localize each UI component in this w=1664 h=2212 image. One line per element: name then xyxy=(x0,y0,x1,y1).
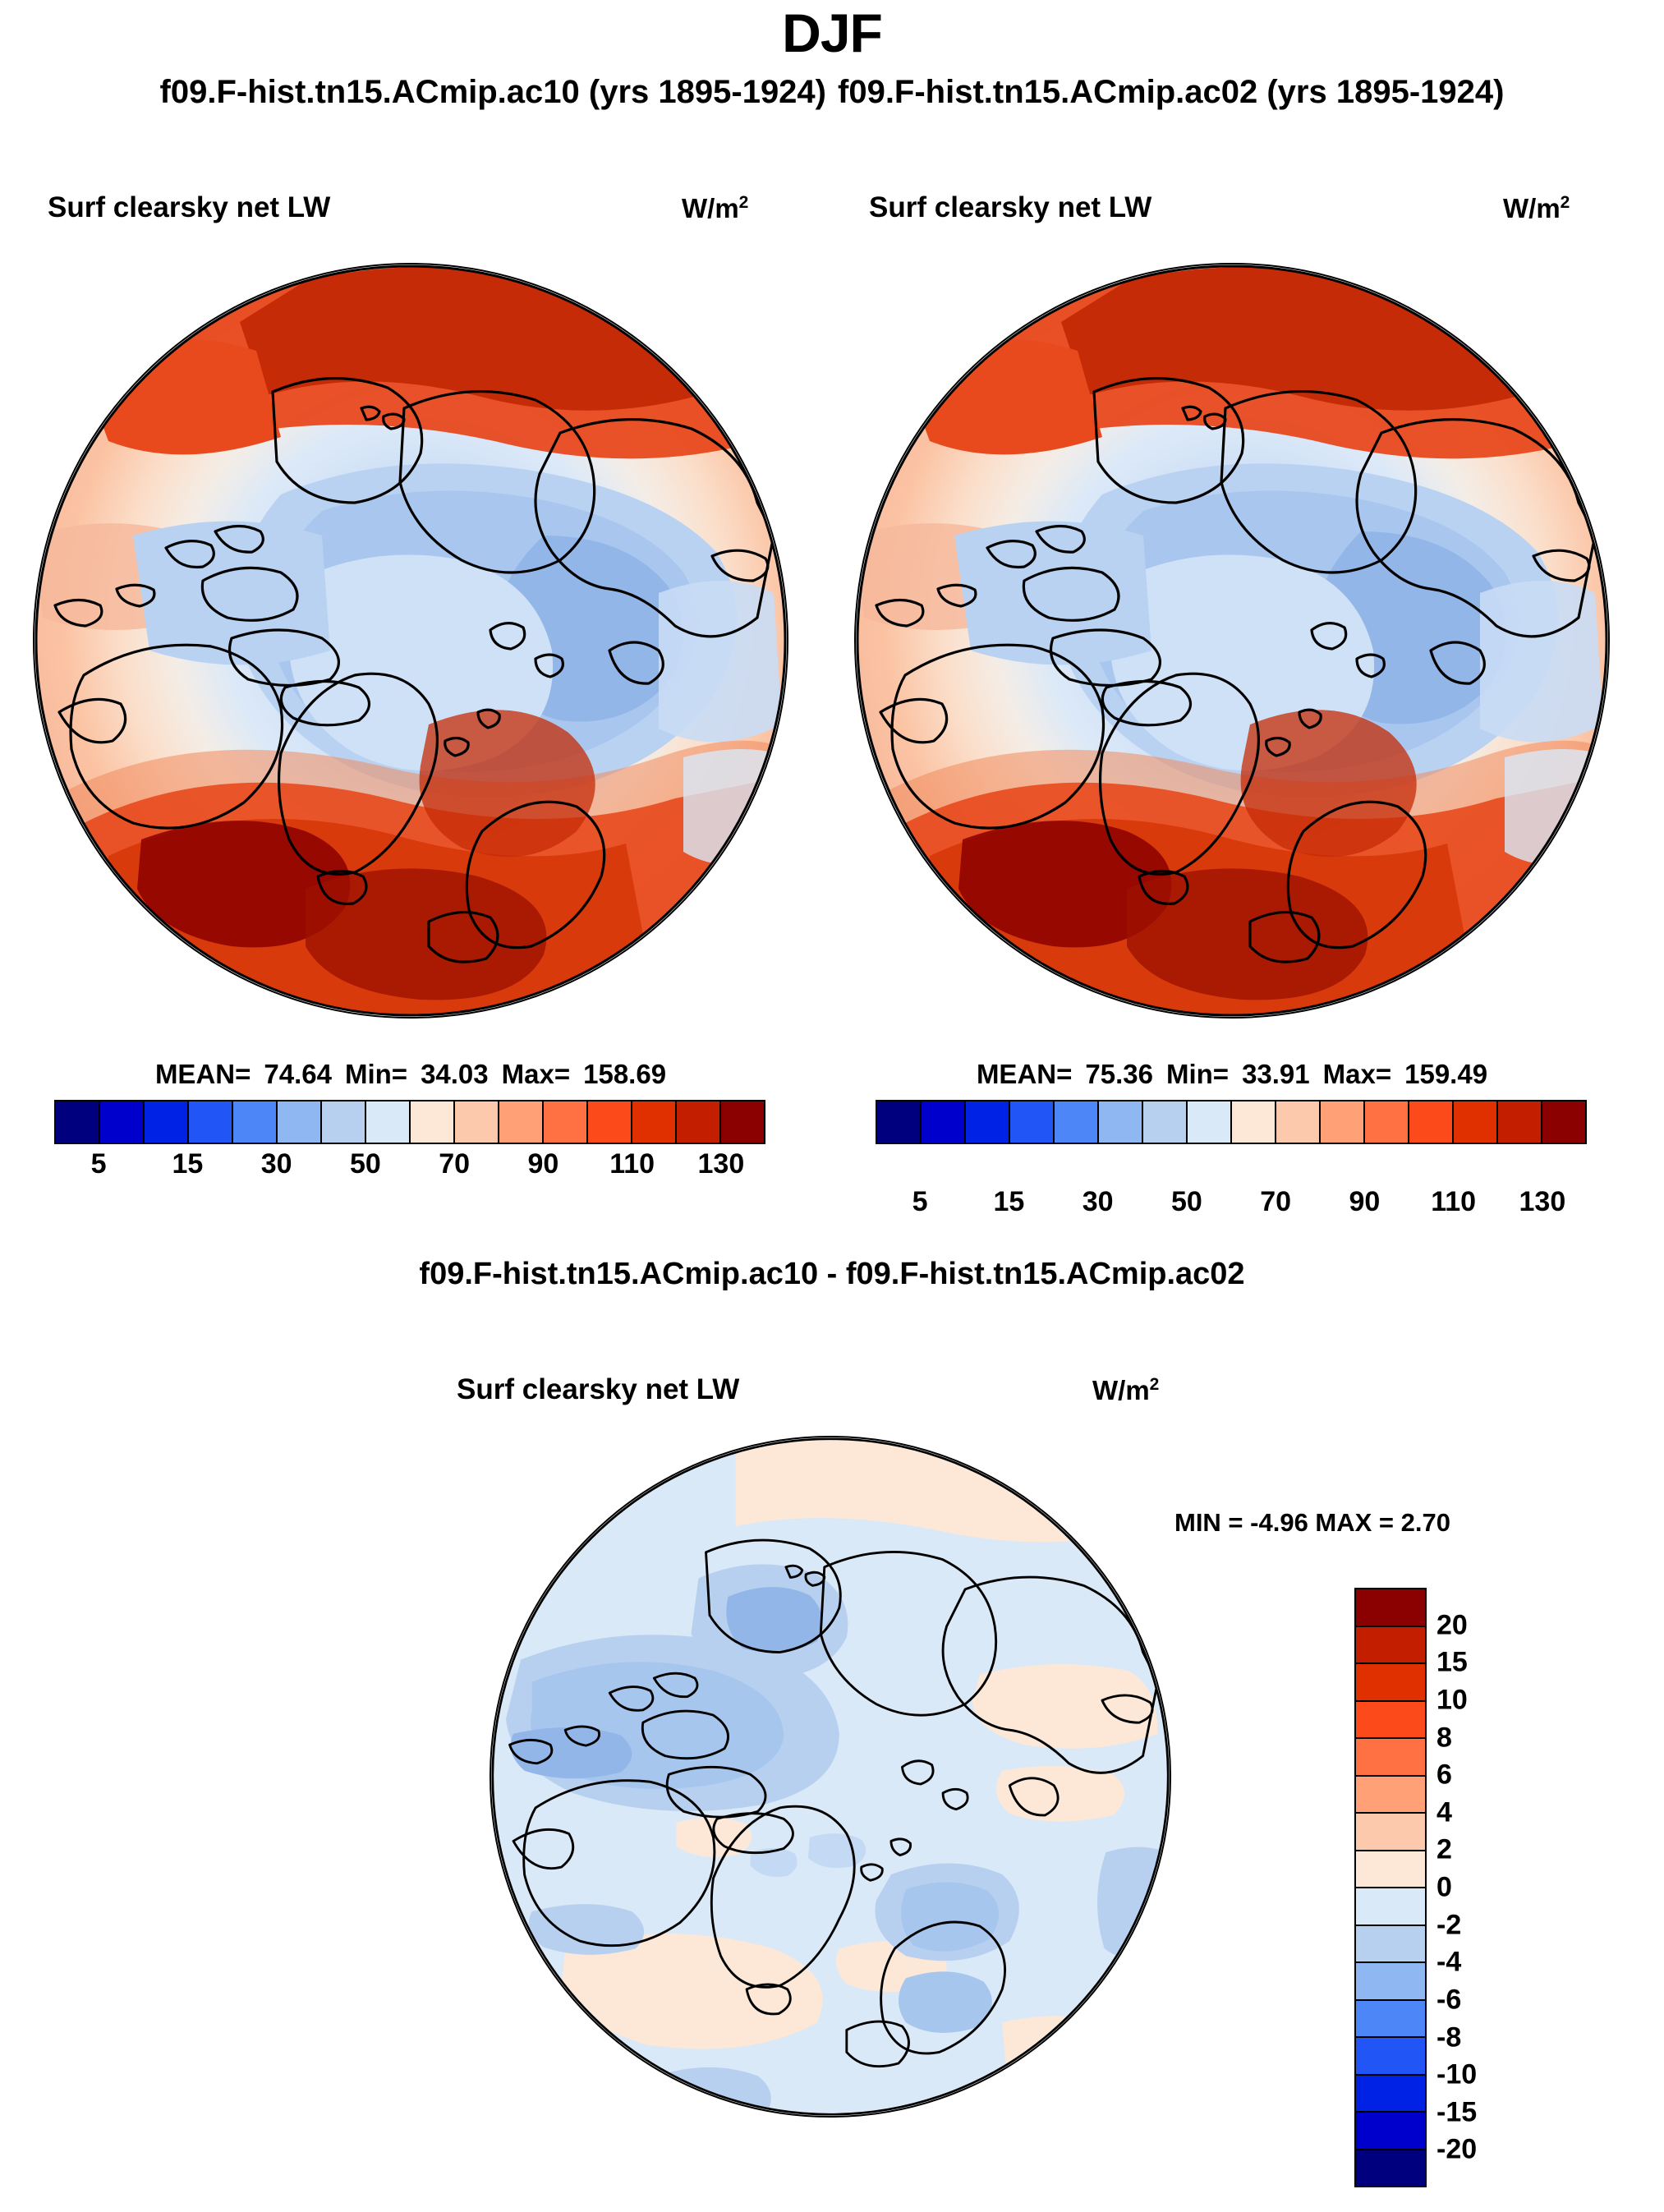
colorbar-cell-7 xyxy=(366,1101,411,1143)
left-min-key: Min= xyxy=(345,1059,407,1089)
difference-colorbar-tick-label: -4 xyxy=(1436,1947,1461,1979)
difference-colorbar-tick-label: 15 xyxy=(1436,1647,1468,1679)
colorbar-cell-12 xyxy=(1409,1101,1454,1143)
difference-colorbar-cell-11 xyxy=(1356,2001,1425,2039)
colorbar-tick-label: 90 xyxy=(527,1148,558,1180)
right-unit-base: W/m xyxy=(1503,193,1561,223)
difference-polar-map[interactable] xyxy=(490,1436,1171,2118)
colorbar-cell-5 xyxy=(278,1101,322,1143)
colorbar-cell-2 xyxy=(145,1101,189,1143)
right-panel-unit-label: W/m2 xyxy=(1503,193,1570,224)
diff-unit-base: W/m xyxy=(1092,1375,1150,1405)
left-unit-base: W/m xyxy=(682,193,739,223)
difference-colorbar-cell-13 xyxy=(1356,2076,1425,2113)
season-title: DJF xyxy=(0,2,1664,64)
difference-colorbar-tick-label: 20 xyxy=(1436,1609,1468,1641)
difference-colorbar-tick-label: 8 xyxy=(1436,1722,1452,1754)
colorbar-tick-label: 5 xyxy=(91,1148,107,1180)
left-mean-value: 74.64 xyxy=(264,1059,332,1089)
difference-colorbar-cell-3 xyxy=(1356,1702,1425,1740)
left-max-value: 158.69 xyxy=(583,1059,666,1089)
colorbar-cell-10 xyxy=(1321,1101,1365,1143)
left-polar-map[interactable] xyxy=(33,263,788,1019)
colorbar-cell-7 xyxy=(1188,1101,1232,1143)
difference-colorbar-cell-2 xyxy=(1356,1664,1425,1702)
colorbar-tick-label: 70 xyxy=(439,1148,470,1180)
colorbar-cell-0 xyxy=(56,1101,100,1143)
colorbar-cell-9 xyxy=(455,1101,499,1143)
colorbar-cell-0 xyxy=(877,1101,922,1143)
colorbar-cell-1 xyxy=(100,1101,145,1143)
difference-colorbar-cell-4 xyxy=(1356,1739,1425,1777)
colorbar-tick-label: 70 xyxy=(1260,1186,1291,1218)
colorbar-cell-13 xyxy=(632,1101,677,1143)
colorbar-cell-9 xyxy=(1276,1101,1321,1143)
colorbar-tick-label: 15 xyxy=(172,1148,203,1180)
colorbar-cell-5 xyxy=(1099,1101,1143,1143)
colorbar-tick-label: 130 xyxy=(1519,1186,1566,1218)
diff-unit-exponent: 2 xyxy=(1150,1375,1160,1394)
right-panel-field-label: Surf clearsky net LW xyxy=(869,191,1151,224)
right-mean-value: 75.36 xyxy=(1085,1059,1153,1089)
difference-colorbar-tick-label: -2 xyxy=(1436,1909,1461,1941)
difference-colorbar-cell-15 xyxy=(1356,2150,1425,2187)
colorbar-cell-4 xyxy=(233,1101,278,1143)
colorbar-cell-2 xyxy=(966,1101,1010,1143)
difference-colorbar-cell-7 xyxy=(1356,1851,1425,1889)
difference-colorbar-tick-label: -10 xyxy=(1436,2059,1477,2091)
left-panel-field-label: Surf clearsky net LW xyxy=(48,191,330,224)
difference-colorbar-cell-6 xyxy=(1356,1814,1425,1851)
colorbar-cell-10 xyxy=(499,1101,544,1143)
colorbar-tick-label: 30 xyxy=(1083,1186,1114,1218)
colorbar-cell-3 xyxy=(189,1101,233,1143)
left-panel-unit-label: W/m2 xyxy=(682,193,748,224)
left-min-value: 34.03 xyxy=(421,1059,489,1089)
colorbar-tick-label: 130 xyxy=(698,1148,745,1180)
left-unit-exponent: 2 xyxy=(739,193,749,212)
case-right-title: f09.F-hist.tn15.ACmip.ac02 (yrs 1895-192… xyxy=(838,74,1504,111)
colorbar-tick-label: 110 xyxy=(609,1148,655,1180)
diff-panel-unit-label: W/m2 xyxy=(1092,1375,1159,1406)
left-colorbar-labels: 51530507090110130 xyxy=(54,1148,765,1186)
difference-colorbar-cell-1 xyxy=(1356,1627,1425,1665)
right-colorbar-labels: 51530507090110130 xyxy=(876,1186,1587,1224)
difference-colorbar-cell-8 xyxy=(1356,1888,1425,1926)
colorbar-tick-label: 15 xyxy=(993,1186,1024,1218)
difference-colorbar-cell-0 xyxy=(1356,1589,1425,1627)
right-unit-exponent: 2 xyxy=(1561,193,1570,212)
diff-minmax-annotation: MIN = -4.96 MAX = 2.70 xyxy=(1174,1508,1585,1538)
left-colorbar[interactable] xyxy=(54,1100,765,1144)
difference-colorbar-tick-label: 2 xyxy=(1436,1834,1452,1866)
difference-colorbar-tick-label: -8 xyxy=(1436,2021,1461,2053)
left-max-key: Max= xyxy=(502,1059,570,1089)
right-max-key: Max= xyxy=(1323,1059,1391,1089)
case-titles-row: f09.F-hist.tn15.ACmip.ac10 (yrs 1895-192… xyxy=(0,74,1664,111)
difference-colorbar-tick-label: -6 xyxy=(1436,1984,1461,2016)
colorbar-cell-15 xyxy=(721,1101,764,1143)
colorbar-tick-label: 50 xyxy=(1171,1186,1202,1218)
difference-colorbar-cell-5 xyxy=(1356,1777,1425,1814)
colorbar-cell-8 xyxy=(1232,1101,1276,1143)
colorbar-cell-6 xyxy=(322,1101,366,1143)
case-left-title: f09.F-hist.tn15.ACmip.ac10 (yrs 1895-192… xyxy=(160,74,826,111)
difference-colorbar-cell-9 xyxy=(1356,1926,1425,1964)
right-colorbar[interactable] xyxy=(876,1100,1587,1144)
right-min-key: Min= xyxy=(1166,1059,1229,1089)
difference-colorbar-cell-10 xyxy=(1356,1963,1425,2001)
left-panel-stats: MEAN=74.64Min=34.03Max=158.69 xyxy=(33,1059,788,1090)
colorbar-tick-label: 5 xyxy=(912,1186,928,1218)
colorbar-tick-label: 30 xyxy=(261,1148,292,1180)
difference-colorbar-tick-label: 10 xyxy=(1436,1684,1468,1716)
colorbar-cell-13 xyxy=(1454,1101,1498,1143)
colorbar-cell-8 xyxy=(411,1101,455,1143)
difference-colorbar-wrapper: 20151086420-2-4-6-8-10-15-20 xyxy=(1354,1588,1601,2196)
difference-colorbar-tick-label: 4 xyxy=(1436,1796,1452,1828)
colorbar-tick-label: 50 xyxy=(350,1148,381,1180)
right-max-value: 159.49 xyxy=(1404,1059,1487,1089)
colorbar-cell-15 xyxy=(1542,1101,1585,1143)
colorbar-cell-14 xyxy=(677,1101,721,1143)
colorbar-tick-label: 110 xyxy=(1431,1186,1476,1218)
colorbar-cell-12 xyxy=(588,1101,632,1143)
colorbar-cell-3 xyxy=(1010,1101,1055,1143)
difference-colorbar-tick-label: 6 xyxy=(1436,1759,1452,1791)
colorbar-cell-11 xyxy=(544,1101,588,1143)
difference-case-title: f09.F-hist.tn15.ACmip.ac10 - f09.F-hist.… xyxy=(0,1257,1664,1292)
difference-colorbar-tick-label: 0 xyxy=(1436,1872,1452,1904)
colorbar-cell-11 xyxy=(1365,1101,1409,1143)
right-min-value: 33.91 xyxy=(1242,1059,1310,1089)
diff-panel-field-label: Surf clearsky net LW xyxy=(457,1373,739,1406)
right-polar-map[interactable] xyxy=(854,263,1610,1019)
colorbar-cell-6 xyxy=(1143,1101,1188,1143)
difference-colorbar-tick-label: -20 xyxy=(1436,2134,1477,2166)
colorbar-cell-4 xyxy=(1055,1101,1099,1143)
colorbar-cell-14 xyxy=(1498,1101,1542,1143)
difference-colorbar[interactable] xyxy=(1354,1588,1427,2187)
difference-colorbar-cell-14 xyxy=(1356,2113,1425,2150)
difference-colorbar-tick-label: -15 xyxy=(1436,2096,1477,2128)
difference-colorbar-labels: 20151086420-2-4-6-8-10-15-20 xyxy=(1436,1588,1576,2187)
colorbar-cell-1 xyxy=(922,1101,966,1143)
right-mean-key: MEAN= xyxy=(977,1059,1072,1089)
difference-colorbar-cell-12 xyxy=(1356,2038,1425,2076)
left-mean-key: MEAN= xyxy=(155,1059,251,1089)
colorbar-tick-label: 90 xyxy=(1349,1186,1380,1218)
right-panel-stats: MEAN=75.36Min=33.91Max=159.49 xyxy=(854,1059,1610,1090)
